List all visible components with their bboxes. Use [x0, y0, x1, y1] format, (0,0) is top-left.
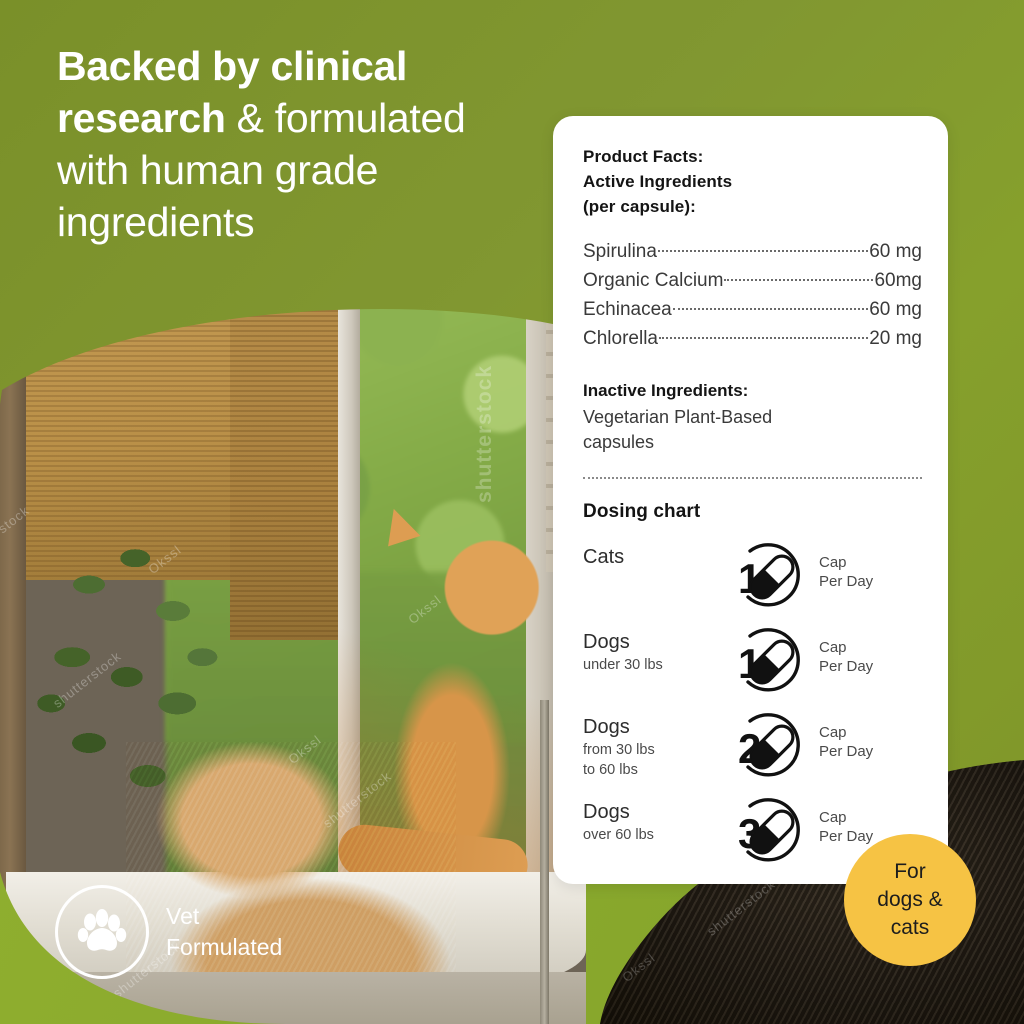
- ingredient-row: Echinacea60 mg: [583, 295, 922, 324]
- headline-line-2-bold: research: [57, 95, 226, 141]
- capsule-count-icon: 2: [728, 709, 812, 787]
- inactive-ingredients-heading: Inactive Ingredients:: [583, 379, 922, 403]
- vet-line-2: Formulated: [166, 932, 282, 963]
- ingredient-row: Spirulina60 mg: [583, 237, 922, 266]
- dosing-weight-range: to 60 lbs: [583, 761, 733, 780]
- dosing-chart-rows: Cats1CapPer DayDogsunder 30 lbs1CapPer D…: [583, 539, 922, 879]
- ingredient-name: Spirulina: [583, 237, 657, 266]
- poster-canvas: Okssl shutterstock stock Okssl Okssl shu…: [0, 0, 1024, 1024]
- floor-lamp-pole: [540, 700, 549, 1024]
- dosing-row: Cats1CapPer Day: [583, 539, 922, 624]
- ingredient-name: Echinacea: [583, 295, 672, 324]
- capsule-count-icon: 1: [728, 539, 812, 617]
- dosing-unit-line-1: Cap: [819, 553, 873, 572]
- paw-circle: [55, 885, 149, 979]
- dosing-weight-range: from 30 lbs: [583, 741, 733, 760]
- dosing-label: Cats: [583, 545, 733, 570]
- product-facts-card: Product Facts: Active Ingredients (per c…: [553, 116, 948, 884]
- vet-formulated-badge: Vet Formulated: [55, 885, 282, 979]
- headline: Backed by clinical research & formulated…: [57, 40, 557, 248]
- headline-line-4: ingredients: [57, 196, 557, 248]
- headline-line-1: Backed by clinical: [57, 43, 407, 89]
- inactive-line-2: capsules: [583, 430, 922, 455]
- dosing-animal: Dogs: [583, 630, 733, 655]
- ingredient-amount: 60mg: [874, 266, 922, 295]
- badge-line-1: For: [877, 858, 942, 886]
- dosing-unit-line-2: Per Day: [819, 657, 873, 676]
- capsule-count-icon: 1: [728, 624, 812, 702]
- badge-line-2: dogs &: [877, 886, 942, 914]
- dosing-animal: Cats: [583, 545, 733, 570]
- dosing-unit-line-1: Cap: [819, 638, 873, 657]
- ingredient-row: Chlorella20 mg: [583, 324, 922, 353]
- inactive-ingredients-body: Vegetarian Plant-Based capsules: [583, 405, 922, 455]
- dosing-animal: Dogs: [583, 715, 733, 740]
- dosing-unit-line-2: Per Day: [819, 827, 873, 846]
- dosing-label: Dogsunder 30 lbs: [583, 630, 733, 675]
- headline-line-2-rest: & formulated: [226, 95, 466, 141]
- section-divider: [583, 477, 922, 479]
- dosing-row: Dogsfrom 30 lbsto 60 lbs2CapPer Day: [583, 709, 922, 794]
- dosing-unit: CapPer Day: [819, 808, 873, 846]
- dosing-label: Dogsover 60 lbs: [583, 800, 733, 845]
- for-dogs-and-cats-badge: For dogs & cats: [844, 834, 976, 966]
- headline-line-3: with human grade: [57, 144, 557, 196]
- dotted-leader: [659, 327, 868, 339]
- dosing-unit: CapPer Day: [819, 723, 873, 761]
- badge-text: For dogs & cats: [877, 858, 942, 942]
- product-facts-heading: Product Facts: Active Ingredients (per c…: [583, 144, 922, 219]
- dosing-unit-line-2: Per Day: [819, 742, 873, 761]
- dosing-chart-heading: Dosing chart: [583, 501, 922, 523]
- ingredient-name: Chlorella: [583, 324, 658, 353]
- vet-formulated-text: Vet Formulated: [166, 901, 282, 963]
- paw-print-icon: [76, 906, 128, 958]
- dosing-row: Dogsunder 30 lbs1CapPer Day: [583, 624, 922, 709]
- vet-line-1: Vet: [166, 901, 282, 932]
- dotted-leader: [658, 240, 868, 252]
- dosing-animal: Dogs: [583, 800, 733, 825]
- ingredient-amount: 60 mg: [869, 237, 922, 266]
- window-blind-right: [230, 280, 340, 640]
- per-capsule-title: (per capsule):: [583, 194, 922, 219]
- ingredient-row: Organic Calcium60mg: [583, 266, 922, 295]
- dosing-unit-line-2: Per Day: [819, 572, 873, 591]
- ingredient-amount: 60 mg: [869, 295, 922, 324]
- dotted-leader: [673, 298, 868, 310]
- active-ingredients-title: Active Ingredients: [583, 169, 922, 194]
- capsule-count-icon: 3: [728, 794, 812, 872]
- inactive-line-1: Vegetarian Plant-Based: [583, 405, 922, 430]
- dosing-weight-range: under 30 lbs: [583, 656, 733, 675]
- dotted-leader: [724, 269, 873, 281]
- ingredient-name: Organic Calcium: [583, 266, 723, 295]
- dosing-unit: CapPer Day: [819, 638, 873, 676]
- ingredient-amount: 20 mg: [869, 324, 922, 353]
- product-facts-title: Product Facts:: [583, 144, 922, 169]
- dosing-unit: CapPer Day: [819, 553, 873, 591]
- dosing-unit-line-1: Cap: [819, 723, 873, 742]
- active-ingredients-list: Spirulina60 mgOrganic Calcium60mgEchinac…: [583, 237, 922, 353]
- dosing-label: Dogsfrom 30 lbsto 60 lbs: [583, 715, 733, 780]
- dosing-weight-range: over 60 lbs: [583, 826, 733, 845]
- badge-line-3: cats: [877, 914, 942, 942]
- dosing-unit-line-1: Cap: [819, 808, 873, 827]
